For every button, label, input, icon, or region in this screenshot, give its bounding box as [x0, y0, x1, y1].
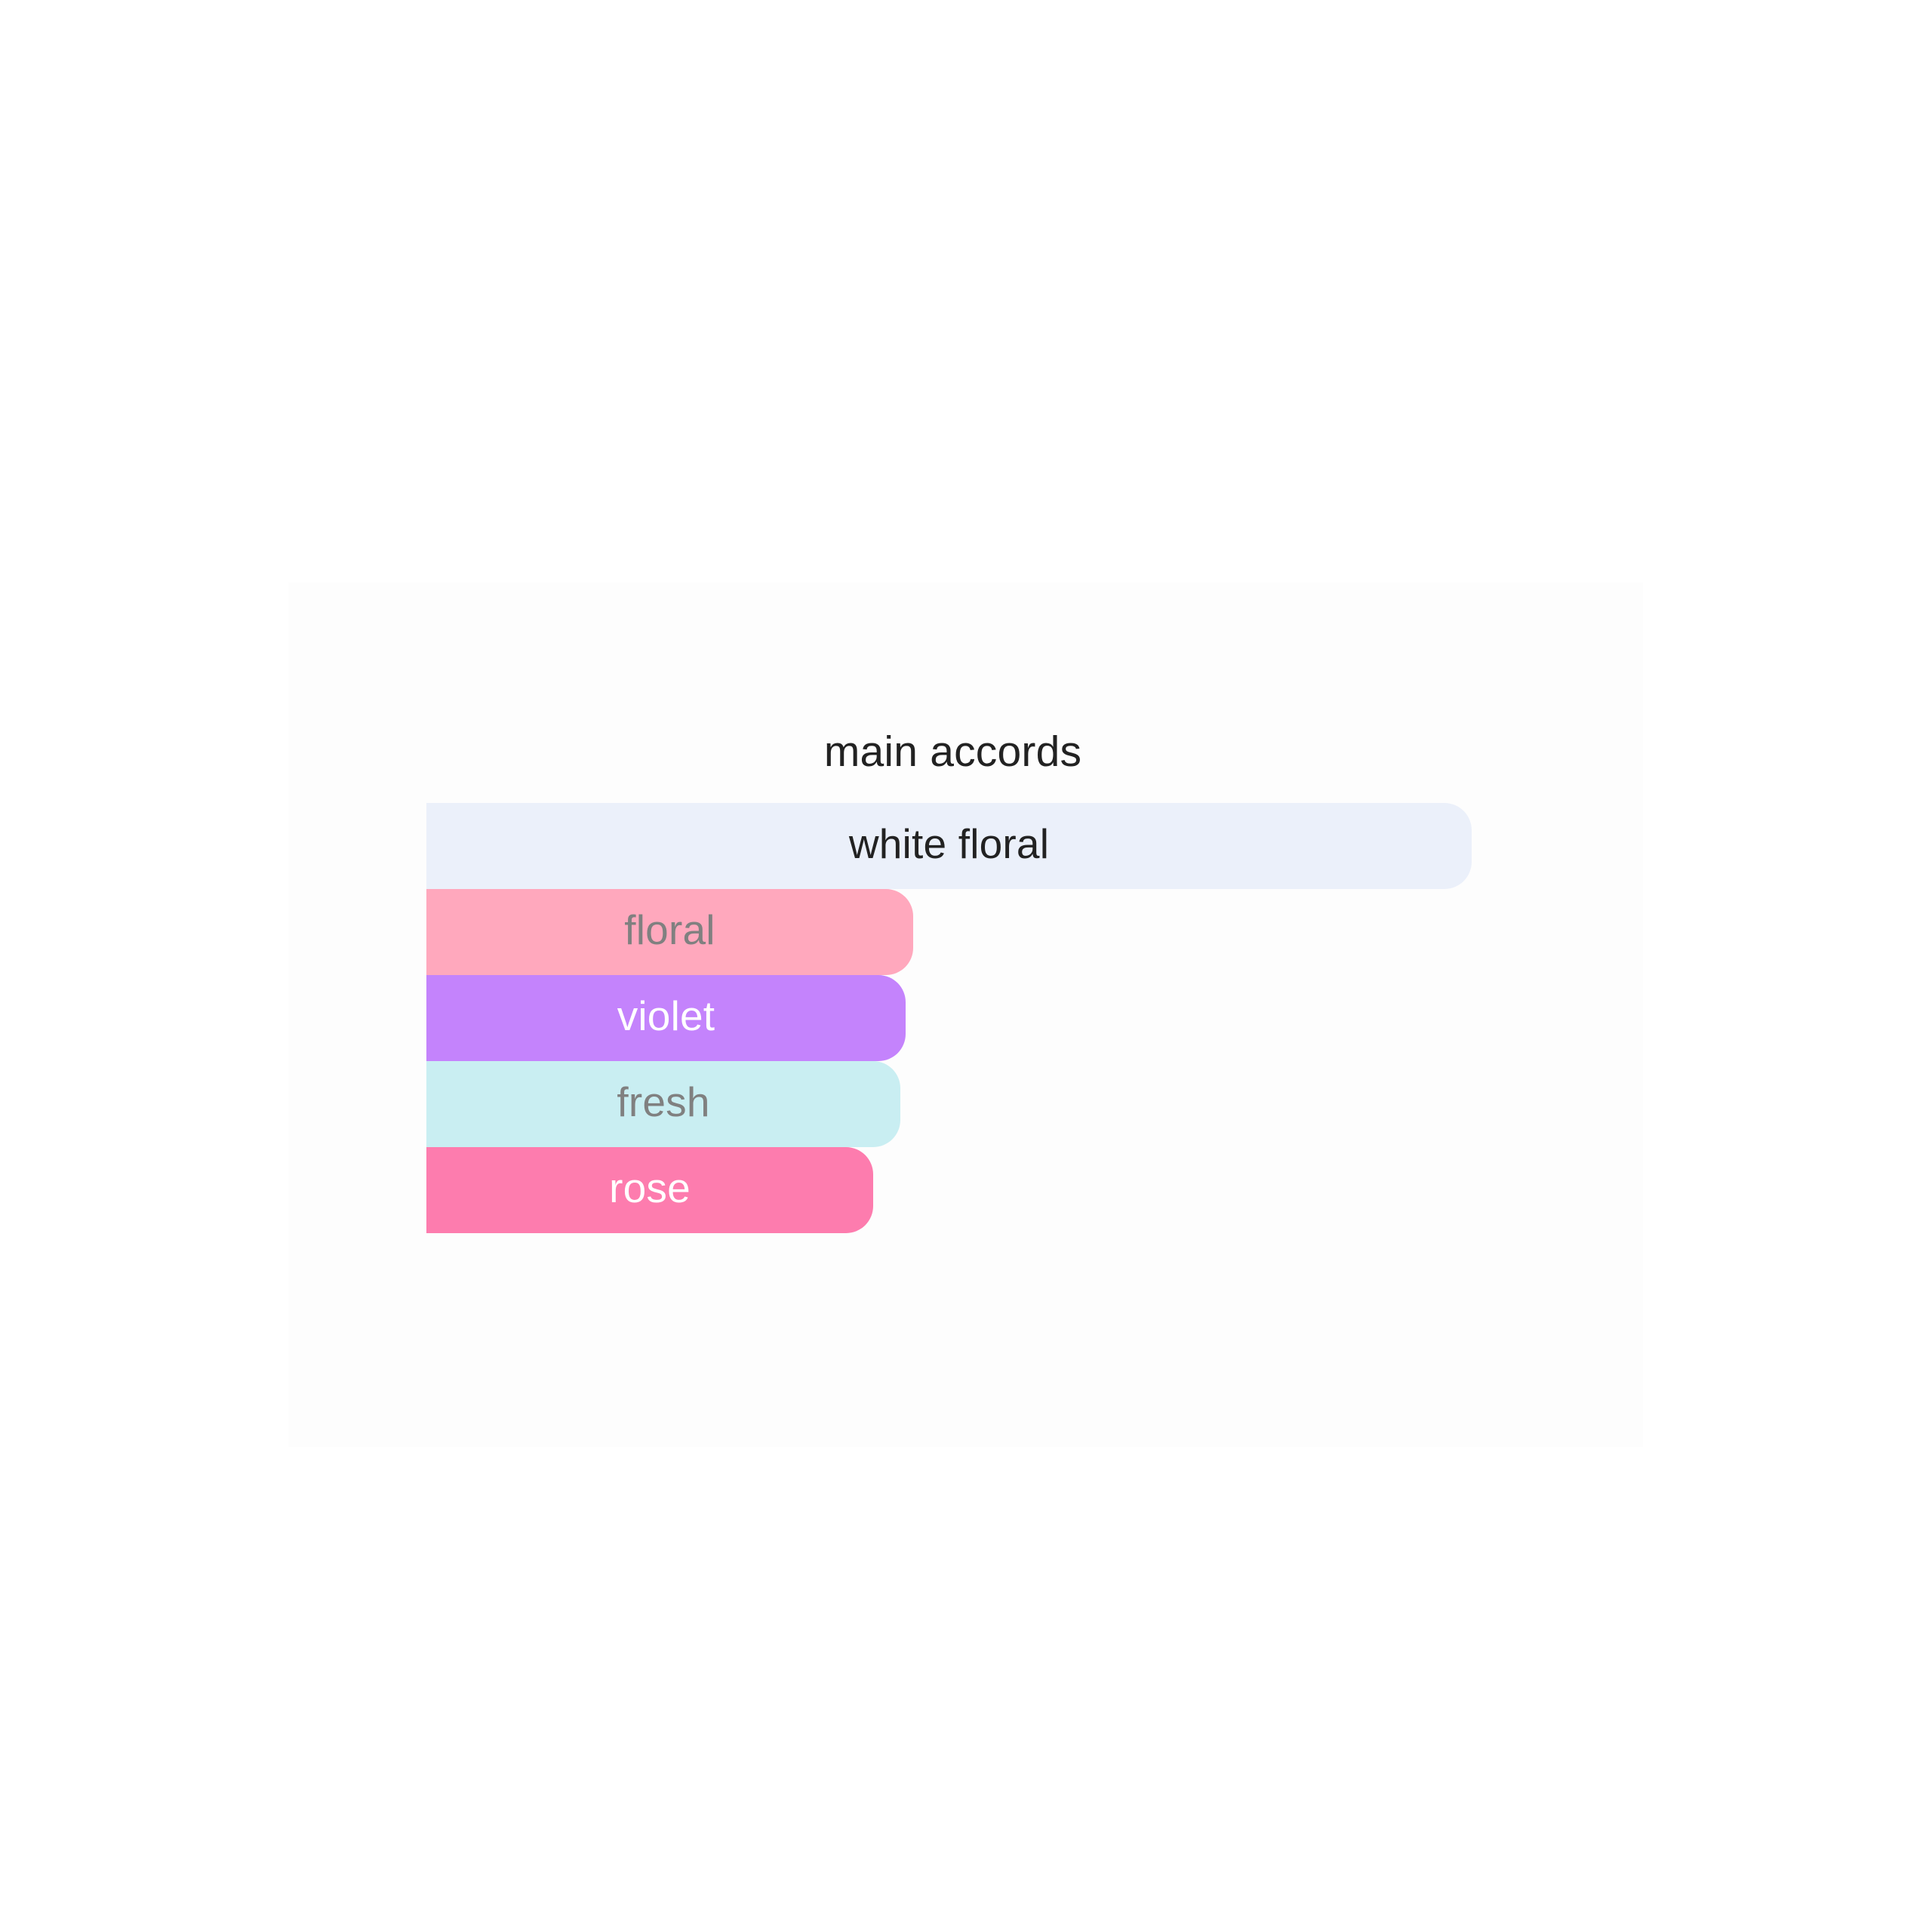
accord-bar[interactable]: violet: [426, 975, 906, 1061]
main-accords-title: main accords: [426, 724, 1472, 779]
screenshot-root: main accords white floralfloralvioletfre…: [0, 0, 1932, 1932]
accord-bar-label: violet: [426, 975, 906, 1061]
accord-bar[interactable]: floral: [426, 889, 913, 975]
accord-bar[interactable]: fresh: [426, 1061, 900, 1147]
accord-bar-label: floral: [426, 889, 913, 975]
main-accords-widget: main accords white floralfloralvioletfre…: [426, 724, 1475, 1233]
accords-bar-list: white floralfloralvioletfreshrose: [426, 803, 1475, 1233]
accord-bar-label: rose: [426, 1147, 873, 1233]
accord-bar[interactable]: rose: [426, 1147, 873, 1233]
accord-bar[interactable]: white floral: [426, 803, 1472, 889]
accord-bar-label: fresh: [426, 1061, 900, 1147]
accord-bar-label: white floral: [426, 803, 1472, 889]
